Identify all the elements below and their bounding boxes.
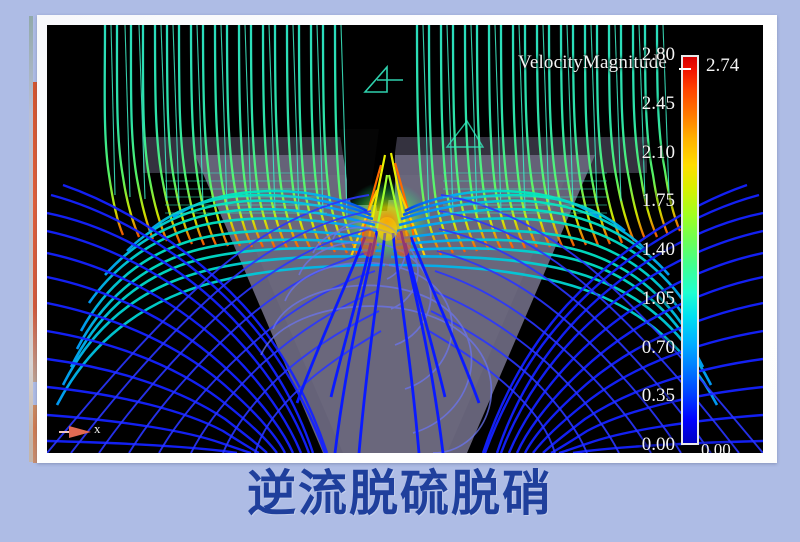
colorbar-tick-label: 2.80 [642, 44, 675, 66]
colorbar-tick-labels: 2.80 2.45 2.10 1.75 1.40 1.05 0.70 0.35 … [607, 55, 675, 445]
colorbar-tick-label: 1.40 [642, 239, 675, 261]
colorbar-tick-label: 0.35 [642, 385, 675, 407]
colorbar-tick-label: 1.05 [642, 288, 675, 310]
colorbar-data-max-tick [679, 68, 691, 70]
axis-orientation-widget: x [57, 421, 113, 443]
colorbar-data-max-label: 2.74 [706, 55, 739, 77]
colorbar-data-min-label: 0.00 [701, 440, 731, 453]
render-viewport[interactable]: x VelocityMagnitude 2.80 2.45 2.10 1.75 … [47, 25, 763, 453]
slide-caption: 逆流脱硫脱硝 [0, 468, 800, 519]
slide-root: x VelocityMagnitude 2.80 2.45 2.10 1.75 … [0, 0, 800, 542]
colorbar-tick-label: 2.45 [642, 93, 675, 115]
colorbar-tick-label: 2.10 [642, 142, 675, 164]
arrow-right-icon [57, 421, 113, 443]
colorbar[interactable] [681, 55, 699, 445]
colorbar-tick-label: 0.70 [642, 337, 675, 359]
colorbar-tick-label: 1.75 [642, 190, 675, 212]
colorbar-tick-label: 0.00 [642, 434, 675, 453]
colorbar-gradient [681, 55, 699, 445]
axis-label-x: x [94, 421, 101, 437]
